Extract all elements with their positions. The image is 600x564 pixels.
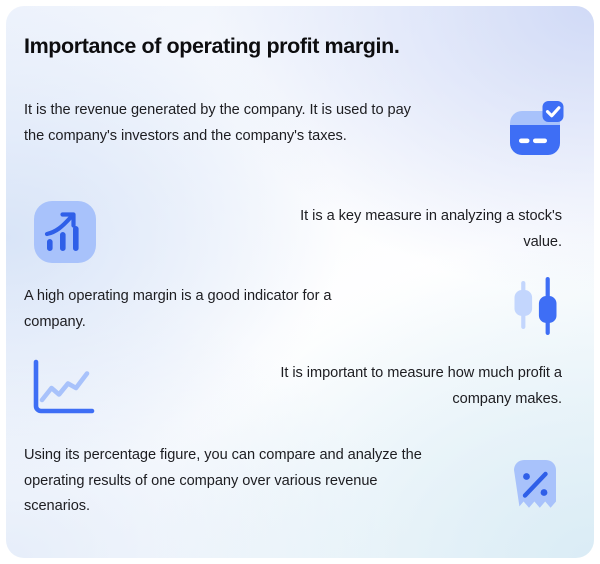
line-chart-icon xyxy=(30,358,98,420)
paragraph-key-measure: It is a key measure in analyzing a stock… xyxy=(262,204,562,255)
candlestick-chart-icon xyxy=(500,272,572,344)
infographic-card: Importance of operating profit margin. I… xyxy=(6,6,594,558)
paragraph-revenue: It is the revenue generated by the compa… xyxy=(24,98,424,149)
paragraph-high-margin: A high operating margin is a good indica… xyxy=(24,284,354,335)
bar-chart-growth-icon xyxy=(32,199,98,265)
paragraph-percentage-figure: Using its percentage figure, you can com… xyxy=(24,443,424,520)
percent-receipt-icon xyxy=(503,452,567,516)
page-title: Importance of operating profit margin. xyxy=(24,34,399,60)
screenshot-canvas: Importance of operating profit margin. I… xyxy=(0,0,600,564)
credit-card-check-icon xyxy=(497,94,573,170)
paragraph-measure-profit: It is important to measure how much prof… xyxy=(232,361,562,412)
